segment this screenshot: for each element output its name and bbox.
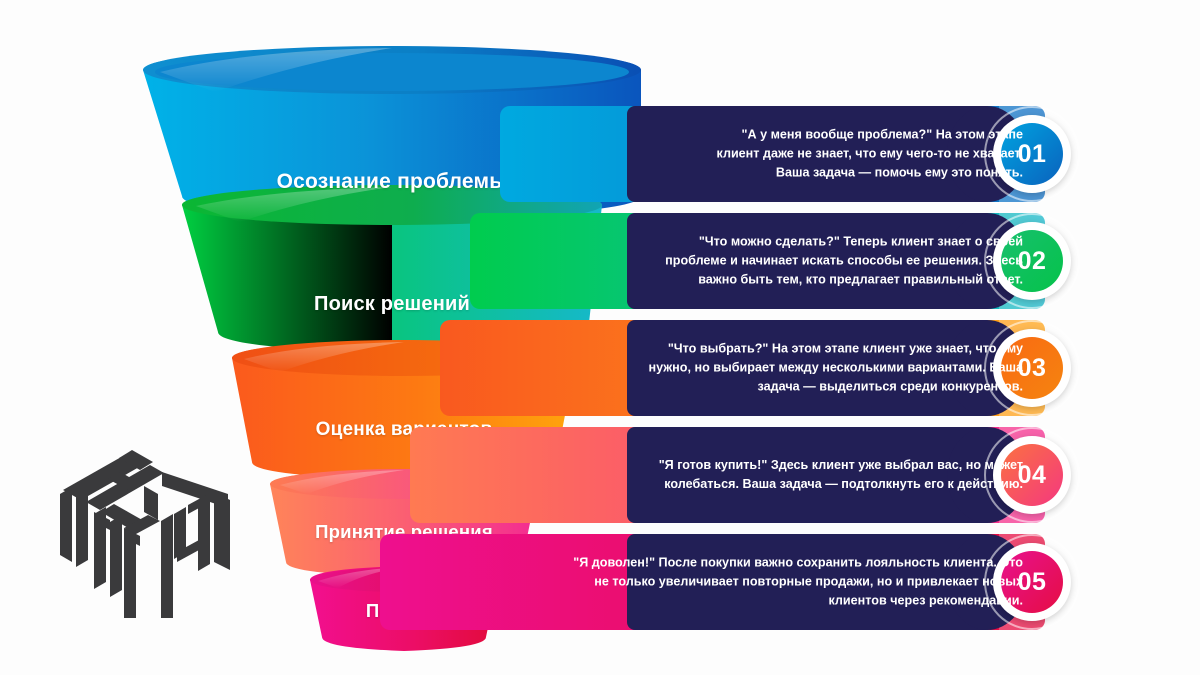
step-text-5: "Я доволен!" После покупки важно сохрани… bbox=[571, 554, 1023, 611]
infographic-canvas: Осознание проблемы Поиск решений Оценка … bbox=[0, 0, 1200, 675]
isometric-cube-logo bbox=[58, 442, 233, 620]
step-text-2: "Что можно сделать?" Теперь клиент знает… bbox=[645, 233, 1023, 290]
step-row-1[interactable]: "А у меня вообще проблема?" На этом этап… bbox=[500, 106, 1045, 202]
step-row-2[interactable]: "Что можно сделать?" Теперь клиент знает… bbox=[470, 213, 1045, 309]
step-text-4: "Я готов купить!" Здесь клиент уже выбра… bbox=[611, 456, 1023, 494]
step-text-1: "А у меня вообще проблема?" На этом этап… bbox=[713, 126, 1023, 183]
step-text-3: "Что выбрать?" На этом этапе клиент уже … bbox=[633, 340, 1023, 397]
step-row-5[interactable]: "Я доволен!" После покупки важно сохрани… bbox=[380, 534, 1045, 630]
step-row-3[interactable]: "Что выбрать?" На этом этапе клиент уже … bbox=[440, 320, 1045, 416]
step-row-4[interactable]: "Я готов купить!" Здесь клиент уже выбра… bbox=[410, 427, 1045, 523]
